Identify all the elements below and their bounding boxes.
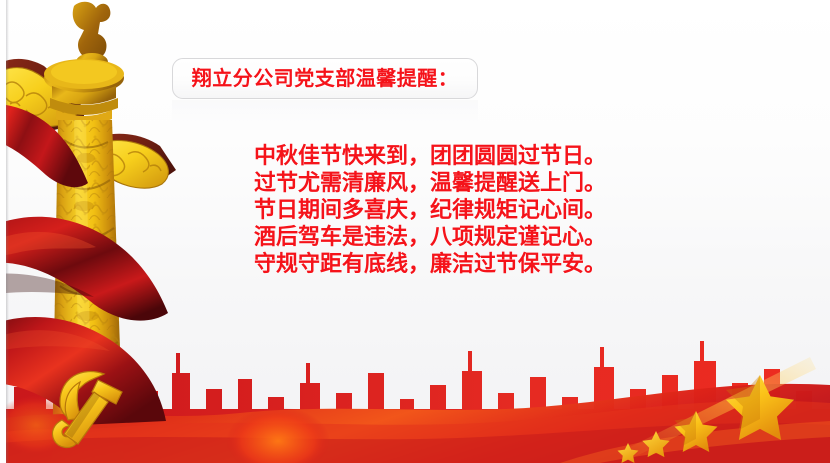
title-banner-label: 翔立分公司党支部温馨提醒： [192,69,459,89]
poster-canvas: 翔立分公司党支部温馨提醒： 中秋佳节快来到，团团圆圆过节日。 过节尤需清廉风，温… [0,0,830,463]
slogan-line-5: 守规守距有底线，廉洁过节保平安。 [250,250,610,277]
left-margin-strip [0,0,6,463]
slogan-line-2: 过节尤需清廉风，温馨提醒送上门。 [250,169,610,196]
party-emblem-hammer-sickle-icon [38,362,138,457]
title-banner: 翔立分公司党支部温馨提醒： [172,58,478,99]
slogan-line-3: 节日期间多喜庆，纪律规矩记心间。 [250,196,610,223]
left-edge-shadow [6,0,9,463]
five-gold-stars-icon [610,323,830,463]
title-banner-reflection [172,100,478,124]
slogan-block: 中秋佳节快来到，团团圆圆过节日。 过节尤需清廉风，温馨提醒送上门。 节日期间多喜… [250,142,610,277]
slogan-line-1: 中秋佳节快来到，团团圆圆过节日。 [250,142,610,169]
slogan-line-4: 酒后驾车是违法，八项规定谨记心。 [250,223,610,250]
